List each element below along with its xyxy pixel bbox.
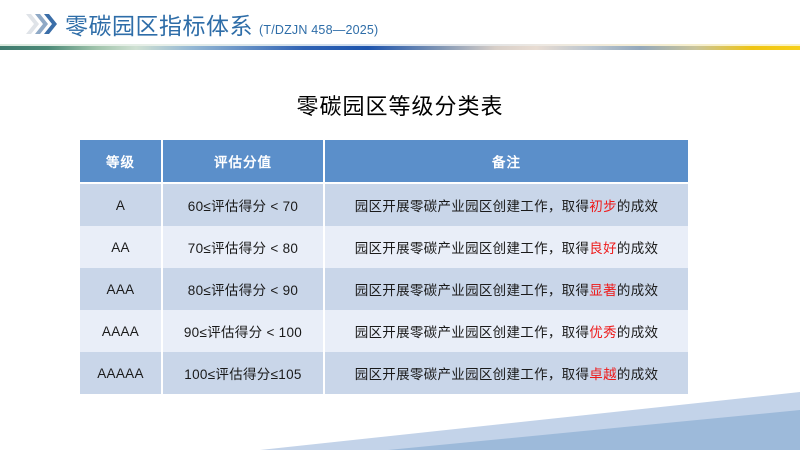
table-row: A60≤评估得分 < 70园区开展零碳产业园区创建工作，取得初步的成效 [80,184,688,226]
cell-score-range: 80≤评估得分 < 90 [163,268,325,310]
header-divider [0,46,800,50]
column-header-score: 评估分值 [163,140,325,184]
cell-grade: AAA [80,268,163,310]
note-prefix: 园区开展零碳产业园区创建工作，取得 [355,283,590,298]
column-header-note: 备注 [325,140,688,184]
cell-note: 园区开展零碳产业园区创建工作，取得初步的成效 [325,184,688,226]
note-prefix: 园区开展零碳产业园区创建工作，取得 [355,241,590,256]
cell-grade: A [80,184,163,226]
table-header: 等级 评估分值 备注 [80,140,688,184]
table-row: AA70≤评估得分 < 80园区开展零碳产业园区创建工作，取得良好的成效 [80,226,688,268]
note-prefix: 园区开展零碳产业园区创建工作，取得 [355,325,590,340]
note-highlight: 卓越 [589,367,617,382]
note-highlight: 优秀 [589,325,617,340]
table-body: A60≤评估得分 < 70园区开展零碳产业园区创建工作，取得初步的成效AA70≤… [80,184,688,394]
cell-score-range: 90≤评估得分 < 100 [163,310,325,352]
table-row: AAAA90≤评估得分 < 100园区开展零碳产业园区创建工作，取得优秀的成效 [80,310,688,352]
note-suffix: 的成效 [617,367,658,382]
note-highlight: 良好 [589,241,617,256]
note-suffix: 的成效 [617,241,658,256]
slide-header: 零碳园区指标体系 (T/DZJN 458—2025) [0,0,800,48]
table-row: AAAAA100≤评估得分≤105园区开展零碳产业园区创建工作，取得卓越的成效 [80,352,688,394]
standard-code-subtitle: (T/DZJN 458—2025) [259,23,378,37]
table-row: AAA80≤评估得分 < 90园区开展零碳产业园区创建工作，取得显著的成效 [80,268,688,310]
column-header-grade: 等级 [80,140,163,184]
note-suffix: 的成效 [617,283,658,298]
note-suffix: 的成效 [617,199,658,214]
cell-grade: AAAAA [80,352,163,394]
cell-grade: AAAA [80,310,163,352]
note-suffix: 的成效 [617,325,658,340]
cell-score-range: 70≤评估得分 < 80 [163,226,325,268]
cell-note: 园区开展零碳产业园区创建工作，取得良好的成效 [325,226,688,268]
table-title: 零碳园区等级分类表 [0,89,800,121]
cell-grade: AA [80,226,163,268]
cell-note: 园区开展零碳产业园区创建工作，取得优秀的成效 [325,310,688,352]
note-highlight: 显著 [589,283,617,298]
note-prefix: 园区开展零碳产业园区创建工作，取得 [355,199,590,214]
note-prefix: 园区开展零碳产业园区创建工作，取得 [355,367,590,382]
cell-note: 园区开展零碳产业园区创建工作，取得卓越的成效 [325,352,688,394]
grade-classification-table: 等级 评估分值 备注 A60≤评估得分 < 70园区开展零碳产业园区创建工作，取… [80,140,688,394]
table-header-row: 等级 评估分值 备注 [80,140,688,184]
page-title: 零碳园区指标体系 [65,7,253,41]
cell-score-range: 60≤评估得分 < 70 [163,184,325,226]
cell-note: 园区开展零碳产业园区创建工作，取得显著的成效 [325,268,688,310]
header-title-group: 零碳园区指标体系 (T/DZJN 458—2025) [65,7,378,41]
cell-score-range: 100≤评估得分≤105 [163,352,325,394]
triangle-dark [388,410,800,450]
triangle-light [260,392,800,450]
chevron-right-icon-dark [44,13,57,35]
chevron-group [30,13,57,35]
note-highlight: 初步 [589,199,617,214]
